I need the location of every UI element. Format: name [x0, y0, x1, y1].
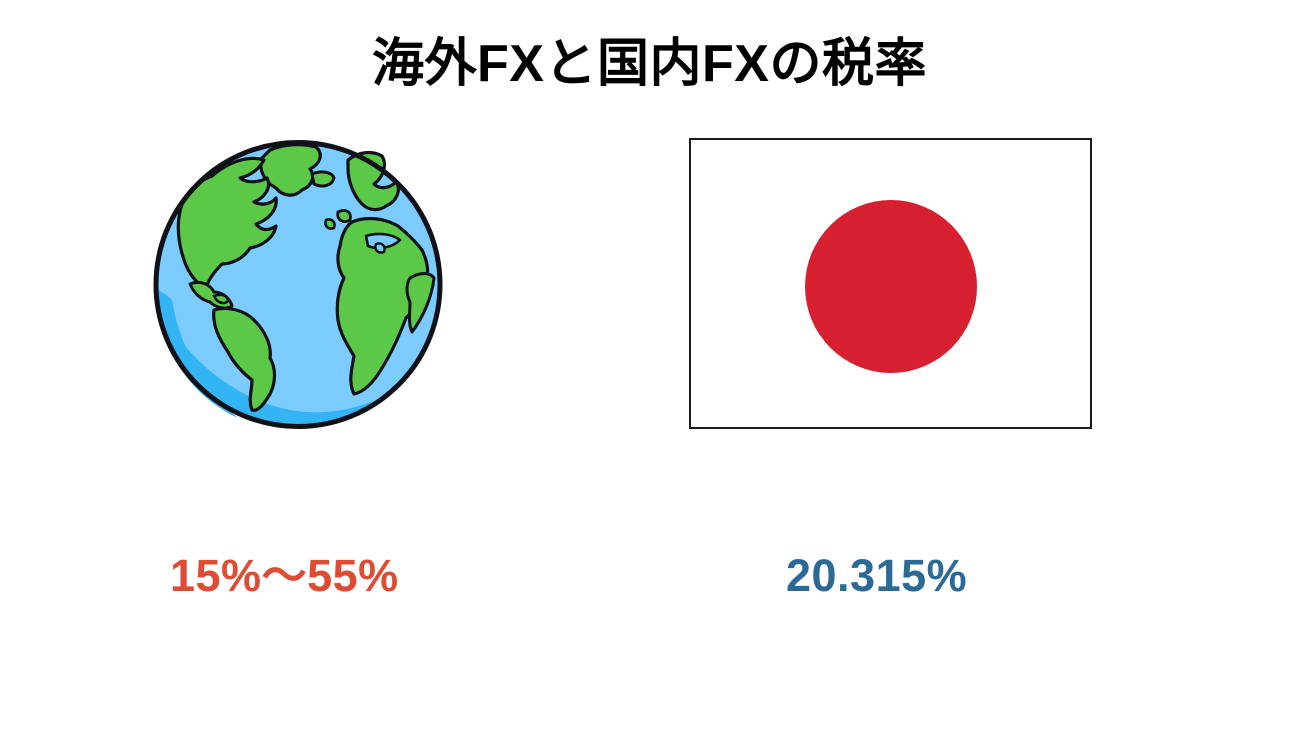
page-title: 海外FXと国内FXの税率	[0, 34, 1299, 94]
figure-slot-domestic	[689, 138, 1096, 432]
figure-slot-overseas	[152, 138, 444, 432]
rate-label-domestic: 20.315%	[786, 550, 967, 602]
slide-canvas: 海外FXと国内FXの税率	[0, 0, 1299, 732]
globe-icon	[152, 138, 444, 431]
column-domestic	[689, 138, 1096, 432]
column-overseas	[152, 138, 444, 432]
japan-flag-icon	[689, 138, 1092, 429]
hinomaru-disc-icon	[805, 200, 977, 373]
rate-label-overseas: 15%〜55%	[170, 550, 399, 602]
